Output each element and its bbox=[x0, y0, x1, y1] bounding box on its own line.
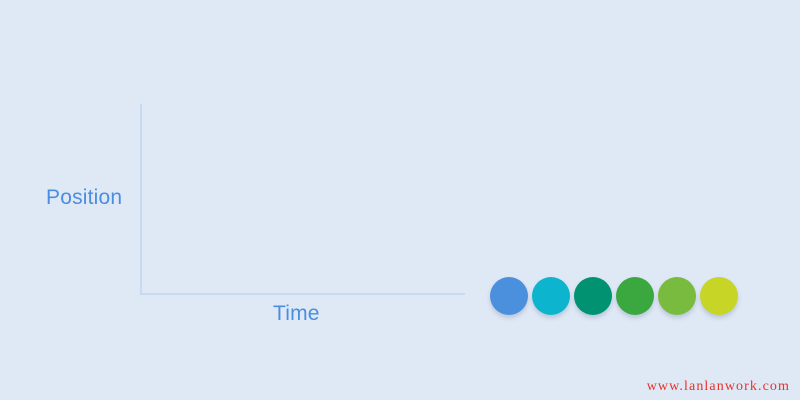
x-axis-line bbox=[140, 293, 465, 295]
swatch-cyan[interactable] bbox=[532, 277, 570, 315]
slide-canvas: Position Time www.lanlanwork.com bbox=[0, 0, 800, 400]
y-axis-line bbox=[140, 104, 142, 295]
swatch-yellow[interactable] bbox=[700, 277, 738, 315]
color-palette bbox=[490, 277, 738, 315]
swatch-yellow-green[interactable] bbox=[658, 277, 696, 315]
swatch-blue[interactable] bbox=[490, 277, 528, 315]
swatch-green[interactable] bbox=[616, 277, 654, 315]
y-axis-label: Position bbox=[46, 187, 122, 208]
swatch-teal[interactable] bbox=[574, 277, 612, 315]
watermark-text: www.lanlanwork.com bbox=[647, 379, 790, 395]
x-axis-label: Time bbox=[273, 303, 320, 324]
